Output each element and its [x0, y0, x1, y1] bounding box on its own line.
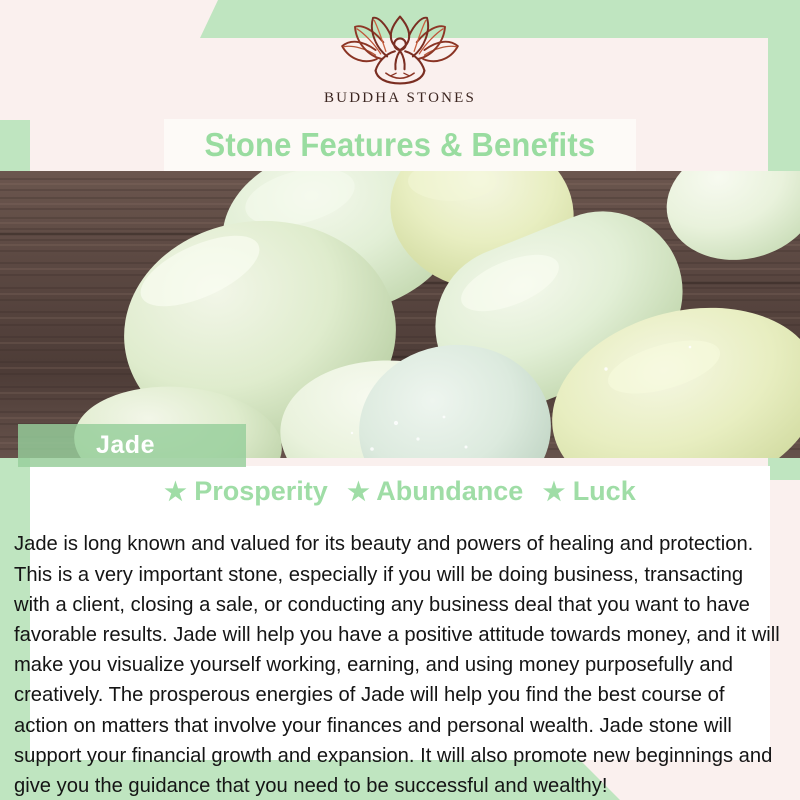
keyword-label-1: Abundance [376, 476, 523, 506]
star-icon: ★ [543, 478, 565, 506]
stone-name-label: Jade [18, 424, 246, 467]
stone-photo [0, 171, 800, 458]
lotus-meditation-icon [335, 14, 465, 86]
stone-info-card: BUDDHA STONES Stone Features & Benefits [0, 0, 800, 800]
keyword-item-2: ★ Luck [543, 476, 636, 506]
keyword-item-1: ★ Abundance [347, 476, 523, 506]
star-icon: ★ [164, 478, 186, 506]
keyword-item-0: ★ Prosperity [164, 476, 328, 506]
star-icon: ★ [347, 478, 369, 506]
title-banner: Stone Features & Benefits [164, 119, 636, 171]
keyword-label-0: Prosperity [194, 476, 328, 506]
description-text: Jade is long known and valued for its be… [14, 529, 782, 800]
keyword-label-2: Luck [573, 476, 636, 506]
stone-name-text: Jade [96, 431, 155, 460]
brand-name: BUDDHA STONES [0, 90, 800, 107]
brand-header: BUDDHA STONES [0, 14, 800, 107]
page-title: Stone Features & Benefits [205, 126, 596, 164]
keyword-list: ★ Prosperity ★ Abundance ★ Luck [0, 476, 800, 507]
